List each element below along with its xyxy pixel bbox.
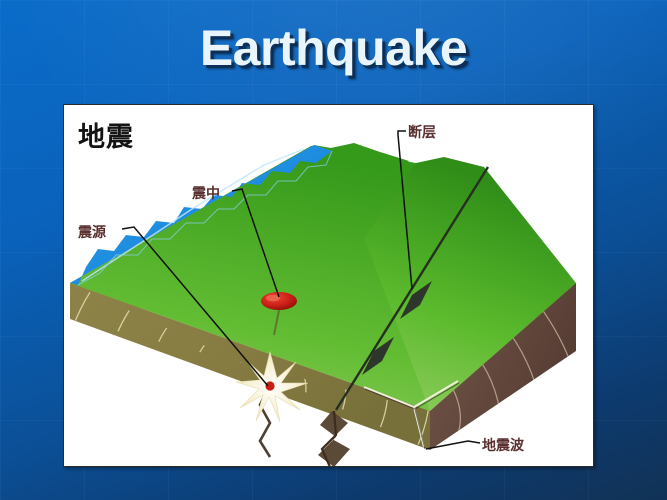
earthquake-block-diagram (64, 105, 593, 466)
slide-canvas: Earthquake (0, 0, 667, 500)
label-epicenter: 震中 (192, 183, 220, 203)
label-seismic-waves: 地震波 (482, 435, 524, 455)
label-hypocenter: 震源 (78, 222, 106, 242)
page-title: Earthquake (0, 19, 667, 77)
label-fault: 断层 (408, 122, 436, 142)
diagram-panel-inner: 地震 震中 震源 断层 地震波 (64, 105, 593, 466)
diagram-panel: 地震 震中 震源 断层 地震波 (63, 104, 594, 467)
diagram-title: 地震 (78, 115, 134, 154)
